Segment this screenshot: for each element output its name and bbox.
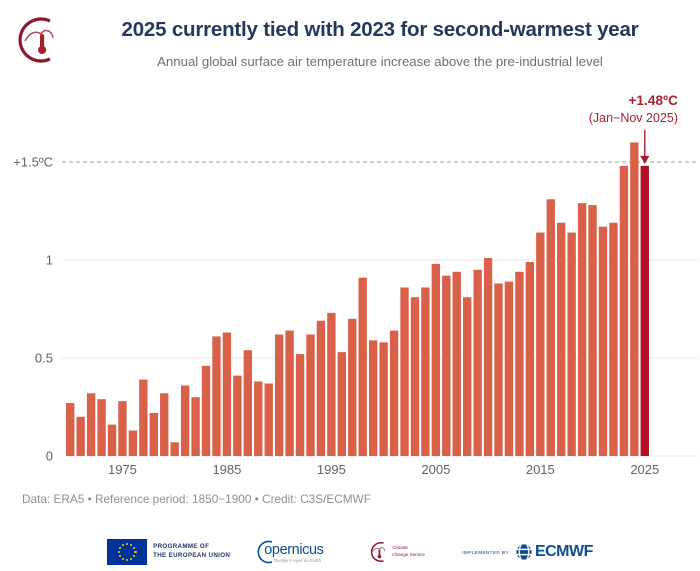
eu-star-icon [119,547,121,549]
eu-star-icon [130,558,132,560]
bar [484,258,492,456]
bar [557,223,565,456]
bar [547,199,555,456]
x-axis-tick-label: 1975 [108,462,137,477]
eu-star-icon [126,543,128,545]
bar [609,223,617,456]
ecmwf-globe-icon [513,543,535,561]
bar [129,431,137,456]
bar [317,321,325,456]
bar [265,383,273,456]
annotation-value: +1.48ºC [498,92,678,110]
bar [599,227,607,456]
bar [473,270,481,456]
bar [515,272,523,456]
bar [139,380,147,456]
x-axis-tick-label: 2005 [421,462,450,477]
bar [421,287,429,456]
bar-highlight-2025 [641,166,649,456]
bar [306,334,314,456]
bar [233,376,241,456]
y-axis-tick-label: 0.5 [35,351,53,366]
bar [620,166,628,456]
bar [118,401,126,456]
bar [400,287,408,456]
ecmwf-logo: IMPLEMENTED BY ECMWF [462,543,593,561]
eu-logo: PROGRAMME OF THE EUROPEAN UNION [107,539,230,565]
bar [578,203,586,456]
bar [244,350,252,456]
y-axis-tick-label: 1 [46,253,53,268]
bar [202,366,210,456]
eu-star-icon [126,559,128,561]
c3s-logo-line1: Climate [392,545,425,552]
bar [171,442,179,456]
c3s-thermometer-logo [12,14,64,66]
bar [160,393,168,456]
bar [338,352,346,456]
c3s-logo-line2: Change Service [392,552,425,559]
page-subtitle: Annual global surface air temperature in… [80,54,680,69]
eu-star-icon [118,551,120,553]
bar [379,342,387,456]
chart-footnote: Data: ERA5 • Reference period: 1850−1900… [22,492,371,506]
eu-logo-line2: THE EUROPEAN UNION [153,552,230,561]
eu-logo-line1: PROGRAMME OF [153,543,230,552]
x-axis-tick-label: 2025 [630,462,659,477]
ecmwf-wordmark: ECMWF [535,543,593,561]
eu-star-icon [122,544,124,546]
bar [254,382,262,456]
bar [369,340,377,456]
bar [630,142,638,456]
bar [348,319,356,456]
bar [567,233,575,456]
bar [66,403,74,456]
bar [285,331,293,456]
x-axis-tick-label: 2015 [526,462,555,477]
copernicus-tagline: Europe's eyes on Earth [274,558,321,563]
bar [390,331,398,456]
bar [453,272,461,456]
implemented-by-label: IMPLEMENTED BY [462,550,509,555]
bar [212,336,220,456]
bar [327,313,335,456]
eu-star-icon [119,555,121,557]
logo-strip: PROGRAMME OF THE EUROPEAN UNION opernicu… [0,533,700,571]
bar [411,297,419,456]
x-axis-tick-label: 1995 [317,462,346,477]
bar [536,233,544,456]
eu-star-icon [130,544,132,546]
annotation-arrow-head [640,156,649,164]
bar [359,278,367,456]
bar [296,354,304,456]
bar [588,205,596,456]
bar [442,276,450,456]
eu-logo-text: PROGRAMME OF THE EUROPEAN UNION [153,543,230,561]
bar [463,297,471,456]
eu-star-icon [134,551,136,553]
c3s-logo: Climate Change Service [366,539,440,565]
page-title: 2025 currently tied with 2023 for second… [80,18,680,42]
bar [432,264,440,456]
y-axis-tick-label: +1.5ºC [13,155,53,170]
eu-flag-icon [107,539,147,565]
bar [505,282,513,456]
bar [191,397,199,456]
bar [108,425,116,456]
eu-star-icon [122,558,124,560]
copernicus-wordmark: opernicus [264,542,323,558]
bar [87,393,95,456]
bar [223,333,231,456]
annotation-callout: +1.48ºC (Jan−Nov 2025) [498,92,678,127]
x-axis-tick-label: 1985 [212,462,241,477]
bar [526,262,534,456]
bar [97,399,105,456]
chart-header: 2025 currently tied with 2023 for second… [0,0,700,86]
copernicus-logo: opernicus Europe's eyes on Earth [252,539,344,565]
eu-star-icon [133,547,135,549]
annotation-period: (Jan−Nov 2025) [498,110,678,127]
bar [76,417,84,456]
bar [181,385,189,456]
bar [494,284,502,456]
eu-star-icon [133,555,135,557]
bar [150,413,158,456]
c3s-logo-text: Climate Change Service [392,545,425,559]
y-axis-tick-label: 0 [46,449,53,464]
bar [275,334,283,456]
c3s-thermometer-small-icon [366,540,390,564]
